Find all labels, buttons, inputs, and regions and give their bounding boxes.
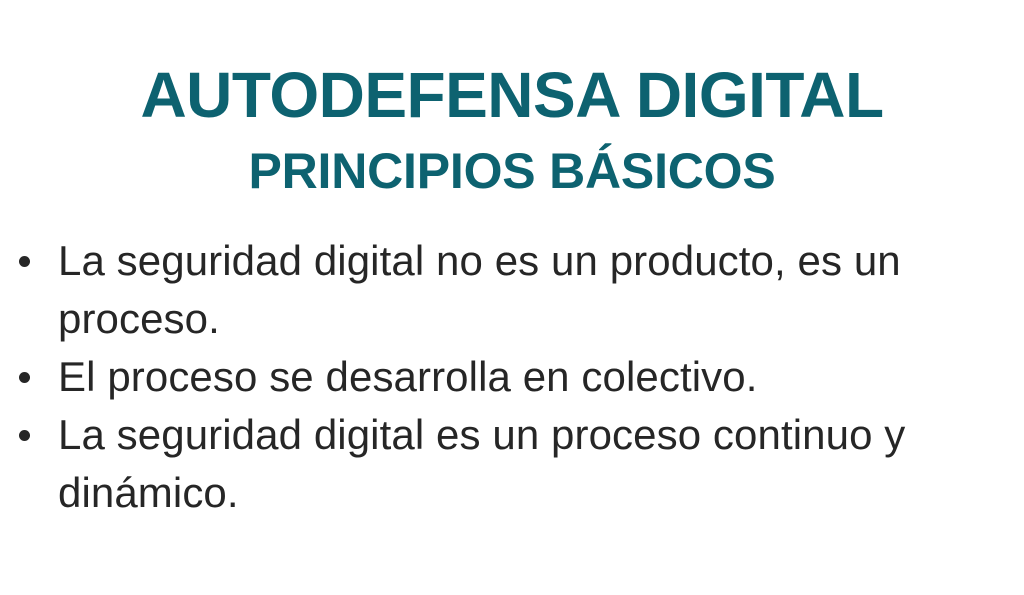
list-item-label: La seguridad digital es un proceso conti… xyxy=(58,406,960,522)
list-item: La seguridad digital es un proceso conti… xyxy=(0,406,1024,522)
bullet-dot-icon xyxy=(19,372,30,383)
list-item-label: La seguridad digital no es un producto, … xyxy=(58,232,960,348)
bullet-dot-icon xyxy=(19,430,30,441)
bullet-dot-icon xyxy=(19,256,30,267)
page-title: AUTODEFENSA DIGITAL xyxy=(0,62,1024,129)
list-item-label: El proceso se desarrolla en colectivo. xyxy=(58,348,960,406)
page-subtitle: PRINCIPIOS BÁSICOS xyxy=(0,129,1024,198)
principles-list: La seguridad digital no es un producto, … xyxy=(0,198,1024,522)
list-item: El proceso se desarrolla en colectivo. xyxy=(0,348,1024,406)
presentation-slide: AUTODEFENSA DIGITAL PRINCIPIOS BÁSICOS L… xyxy=(0,0,1024,595)
title-block: AUTODEFENSA DIGITAL PRINCIPIOS BÁSICOS xyxy=(0,0,1024,198)
list-item: La seguridad digital no es un producto, … xyxy=(0,232,1024,348)
